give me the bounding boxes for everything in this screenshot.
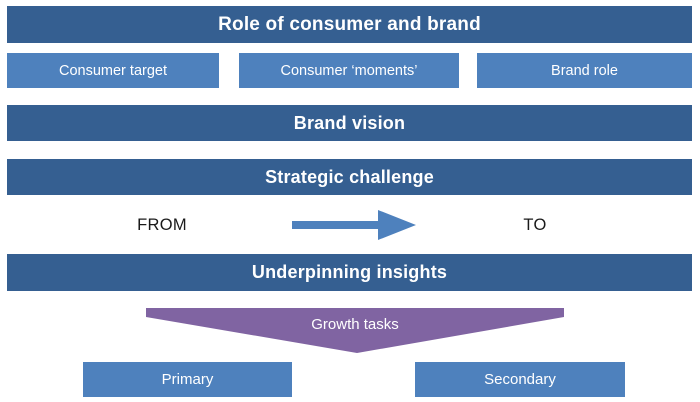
- to-label-text: TO: [523, 216, 546, 235]
- section-bar-strategic-challenge: Strategic challenge: [7, 159, 692, 195]
- chip-brand-role[interactable]: Brand role: [477, 53, 692, 88]
- from-label-text: FROM: [137, 216, 187, 235]
- growth-tasks-chevron: Growth tasks: [146, 307, 564, 357]
- section-bar-underpinning-insights: Underpinning insights: [7, 254, 692, 291]
- chip-primary-label: Primary: [162, 371, 214, 388]
- section-bar-underpinning-insights-label: Underpinning insights: [252, 262, 447, 283]
- chip-secondary-label: Secondary: [484, 371, 556, 388]
- right-arrow-icon: [290, 206, 420, 244]
- section-bar-brand-vision-label: Brand vision: [294, 113, 405, 134]
- to-label: TO: [490, 209, 580, 241]
- section-bar-strategic-challenge-label: Strategic challenge: [265, 167, 434, 188]
- header-bar-role-of-consumer-and-brand: Role of consumer and brand: [7, 6, 692, 43]
- chip-brand-role-label: Brand role: [551, 63, 618, 79]
- chip-secondary[interactable]: Secondary: [415, 362, 625, 397]
- chip-primary[interactable]: Primary: [83, 362, 292, 397]
- down-chevron-icon: [146, 307, 564, 357]
- chip-consumer-target[interactable]: Consumer target: [7, 53, 219, 88]
- diagram-canvas: Role of consumer and brand Consumer targ…: [0, 0, 700, 402]
- section-bar-brand-vision: Brand vision: [7, 105, 692, 141]
- chip-consumer-moments[interactable]: Consumer ‘moments’: [239, 53, 459, 88]
- from-label: FROM: [112, 209, 212, 241]
- chip-consumer-target-label: Consumer target: [59, 63, 167, 79]
- header-bar-label: Role of consumer and brand: [218, 14, 481, 36]
- chip-consumer-moments-label: Consumer ‘moments’: [281, 63, 418, 79]
